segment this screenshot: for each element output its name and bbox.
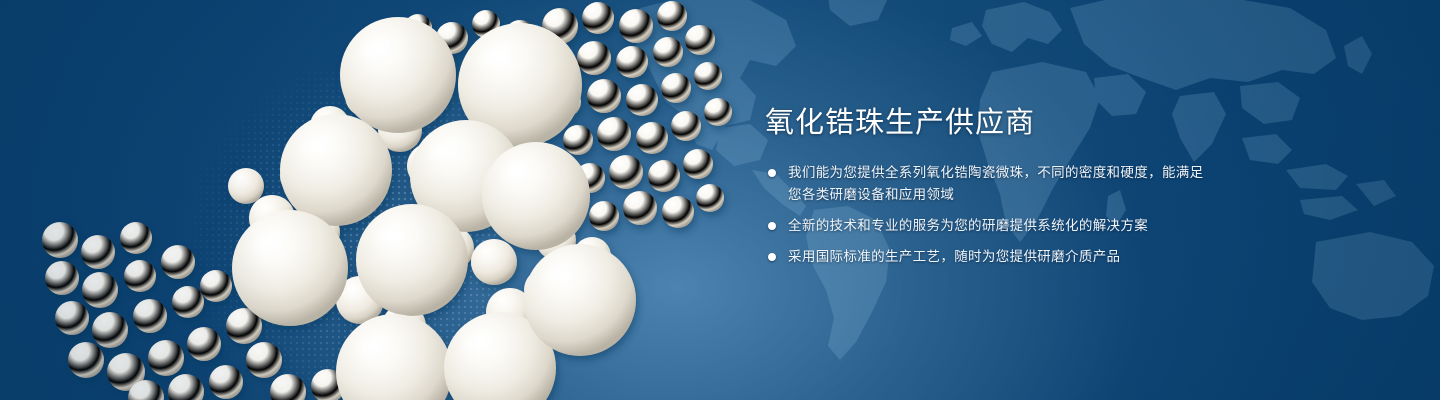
bullet-dot-icon [768,222,776,230]
bullet-dot-icon [768,253,776,261]
hero-copy-block: 氧化锆珠生产供应商 我们能为您提供全系列氧化锆陶瓷微珠，不同的密度和硬度，能满足… [765,106,1215,268]
list-item: 全新的技术和专业的服务为您的研磨提供系统化的解决方案 [765,215,1215,237]
list-item-label: 采用国际标准的生产工艺，随时为您提供研磨介质产品 [788,246,1215,268]
page-title: 氧化锆珠生产供应商 [765,106,1215,140]
list-item-label: 我们能为您提供全系列氧化锆陶瓷微珠，不同的密度和硬度，能满足您各类研磨设备和应用… [788,162,1215,206]
hero-banner: 氧化锆珠生产供应商 我们能为您提供全系列氧化锆陶瓷微珠，不同的密度和硬度，能满足… [0,0,1440,400]
banner-vignette [0,0,1440,400]
bullet-dot-icon [768,169,776,177]
list-item-label: 全新的技术和专业的服务为您的研磨提供系统化的解决方案 [788,215,1215,237]
list-item: 采用国际标准的生产工艺，随时为您提供研磨介质产品 [765,246,1215,268]
list-item: 我们能为您提供全系列氧化锆陶瓷微珠，不同的密度和硬度，能满足您各类研磨设备和应用… [765,162,1215,206]
hero-feature-list: 我们能为您提供全系列氧化锆陶瓷微珠，不同的密度和硬度，能满足您各类研磨设备和应用… [765,162,1215,268]
